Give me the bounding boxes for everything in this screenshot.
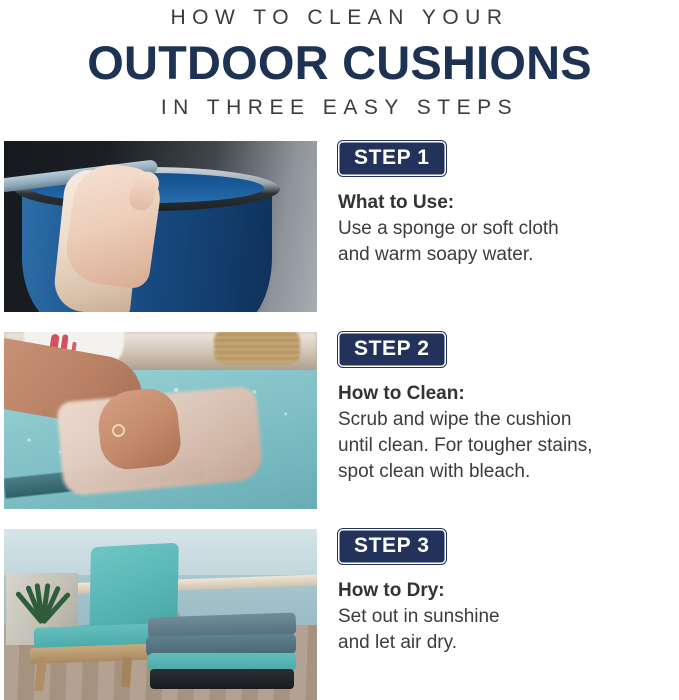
step-1-photo: [4, 141, 317, 312]
step-2-badge: STEP 2: [338, 332, 446, 367]
step-1-content: STEP 1 What to Use: Use a sponge or soft…: [338, 141, 679, 268]
step-1-badge: STEP 1: [338, 141, 446, 176]
step-3-badge: STEP 3: [338, 529, 446, 564]
step-3-body: Set out in sunshine and let air dry.: [338, 604, 679, 656]
step-2-content: STEP 2 How to Clean: Scrub and wipe the …: [338, 332, 679, 485]
step-3-content: STEP 3 How to Dry: Set out in sunshine a…: [338, 529, 679, 656]
stacked-cushion-4: [150, 669, 294, 689]
step-2-subhead: How to Clean:: [338, 382, 679, 406]
steps-list: STEP 1 What to Use: Use a sponge or soft…: [0, 141, 679, 700]
page-title: OUTDOOR CUSHIONS: [0, 36, 679, 90]
step-row-1: STEP 1 What to Use: Use a sponge or soft…: [0, 141, 679, 332]
step-row-3: STEP 3 How to Dry: Set out in sunshine a…: [0, 529, 679, 700]
step-1-body: Use a sponge or soft cloth and warm soap…: [338, 216, 679, 268]
step-1-subhead: What to Use:: [338, 191, 679, 215]
ring: [112, 424, 125, 437]
step-2-photo: [4, 332, 317, 509]
infographic-header: HOW TO CLEAN YOUR OUTDOOR CUSHIONS IN TH…: [0, 0, 679, 122]
step-3-photo: [4, 529, 317, 700]
header-kicker: HOW TO CLEAN YOUR: [0, 4, 679, 32]
agave-plant: [16, 577, 72, 623]
stacked-cushions: [146, 615, 296, 687]
wicker-basket: [214, 332, 300, 364]
step-3-subhead: How to Dry:: [338, 579, 679, 603]
step-2-body: Scrub and wipe the cushion until clean. …: [338, 407, 679, 485]
header-subkicker: IN THREE EASY STEPS: [0, 94, 679, 122]
step-row-2: STEP 2 How to Clean: Scrub and wipe the …: [0, 332, 679, 529]
